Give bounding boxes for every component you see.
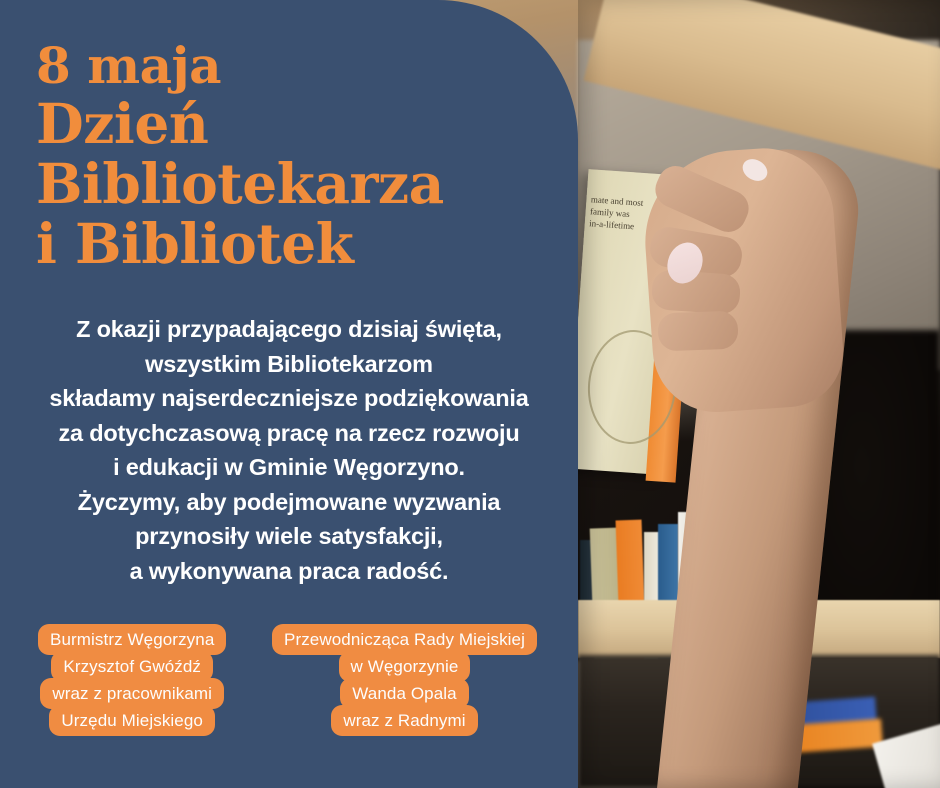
signature-mayor: Burmistrz Węgorzyna Krzysztof Gwóźdź wra… xyxy=(38,624,226,736)
signature-council-chair: Przewodnicząca Rady Miejskiej w Węgorzyn… xyxy=(272,624,537,736)
poster-heading: 8 maja Dzień Bibliotekarza i Bibliotek xyxy=(36,38,536,274)
photo-finger xyxy=(657,311,738,352)
body-line: a wykonywana praca radość. xyxy=(0,554,578,589)
body-line: składamy najserdeczniejsze podziękowania xyxy=(0,381,578,416)
poster-body-text: Z okazji przypadającego dzisiaj święta, … xyxy=(0,312,578,588)
blue-panel-bottom-fill xyxy=(0,760,578,788)
signature-line: wraz z Radnymi xyxy=(331,705,477,736)
body-line: i edukacji w Gminie Węgorzyno. xyxy=(0,450,578,485)
poster: mate and most family was in-a-lifetime 8… xyxy=(0,0,940,788)
heading-line-2: Dzień xyxy=(36,94,536,154)
body-line: wszystkim Bibliotekarzom xyxy=(0,347,578,382)
body-line: Życzymy, aby podejmowane wyzwania xyxy=(0,485,578,520)
body-line: za dotychczasową pracę na rzecz rozwoju xyxy=(0,416,578,451)
signature-line: Urzędu Miejskiego xyxy=(49,705,215,736)
heading-line-3: Bibliotekarza xyxy=(36,154,536,214)
body-line: Z okazji przypadającego dzisiaj święta, xyxy=(0,312,578,347)
body-line: przynosiły wiele satysfakcji, xyxy=(0,519,578,554)
heading-line-date: 8 maja xyxy=(36,38,536,94)
heading-line-4: i Bibliotek xyxy=(36,214,536,274)
signature-blocks: Burmistrz Węgorzyna Krzysztof Gwóźdź wra… xyxy=(0,624,578,764)
